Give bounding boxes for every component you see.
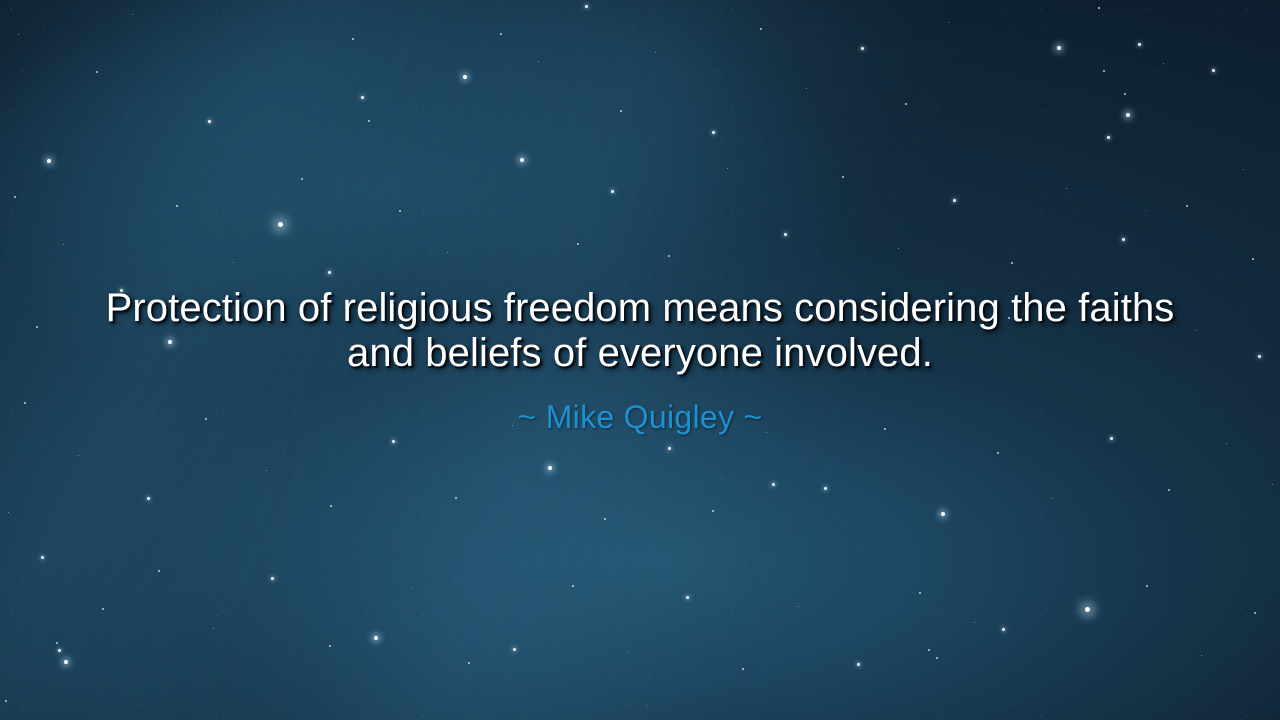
quote-attribution: ~ Mike Quigley ~ (0, 399, 1280, 436)
quote-container: Protection of religious freedom means co… (0, 286, 1280, 436)
quote-card: Protection of religious freedom means co… (0, 0, 1280, 720)
quote-text: Protection of religious freedom means co… (0, 286, 1280, 376)
